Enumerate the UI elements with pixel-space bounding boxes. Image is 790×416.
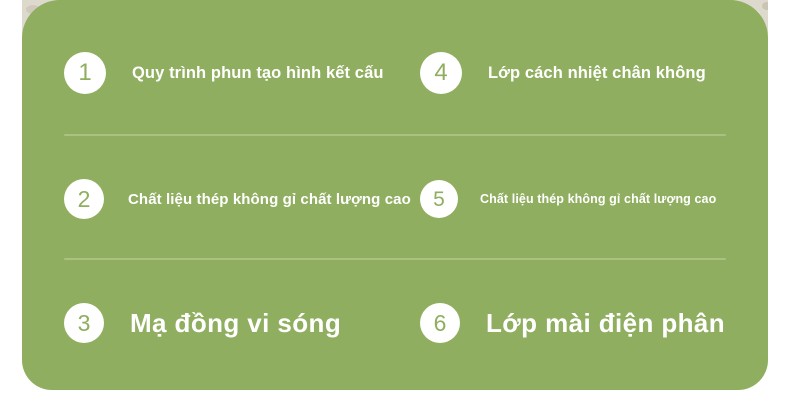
feature-grid: 1 Quy trình phun tạo hình kết cấu 4 Lớp … [22,0,768,390]
feature-row-3: 3 Mạ đồng vi sóng 6 Lớp mài điện phân [22,262,768,384]
left-gutter [0,0,22,34]
feature-number-badge-1: 1 [64,52,106,94]
feature-number-badge-5: 5 [420,180,458,218]
green-feature-panel: 1 Quy trình phun tạo hình kết cấu 4 Lớp … [22,0,768,390]
feature-number-badge-2: 2 [64,179,104,219]
feature-item-3[interactable]: 3 Mạ đồng vi sóng [64,262,404,384]
feature-label-3: Mạ đồng vi sóng [130,308,341,339]
feature-item-2[interactable]: 2 Chất liệu thép không gỉ chất lượng cao [64,138,404,260]
feature-number-badge-4: 4 [420,52,462,94]
feature-label-5: Chất liệu thép không gỉ chất lượng cao [480,192,716,206]
feature-row-2: 2 Chất liệu thép không gỉ chất lượng cao… [22,138,768,260]
feature-item-1[interactable]: 1 Quy trình phun tạo hình kết cấu [64,12,404,134]
right-gutter [768,0,790,34]
feature-label-6: Lớp mài điện phân [486,308,725,339]
row-divider-1 [64,134,726,136]
feature-number-badge-6: 6 [420,303,460,343]
feature-number-badge-3: 3 [64,303,104,343]
feature-label-1: Quy trình phun tạo hình kết cấu [132,64,384,83]
feature-panel-screenshot: 1 Quy trình phun tạo hình kết cấu 4 Lớp … [0,0,790,416]
feature-label-2: Chất liệu thép không gỉ chất lượng cao [128,191,411,208]
feature-item-4[interactable]: 4 Lớp cách nhiệt chân không [420,12,750,134]
feature-item-5[interactable]: 5 Chất liệu thép không gỉ chất lượng cao [420,138,750,260]
feature-label-4: Lớp cách nhiệt chân không [488,64,706,83]
row-divider-2 [64,258,726,260]
feature-row-1: 1 Quy trình phun tạo hình kết cấu 4 Lớp … [22,12,768,134]
feature-item-6[interactable]: 6 Lớp mài điện phân [420,262,750,384]
